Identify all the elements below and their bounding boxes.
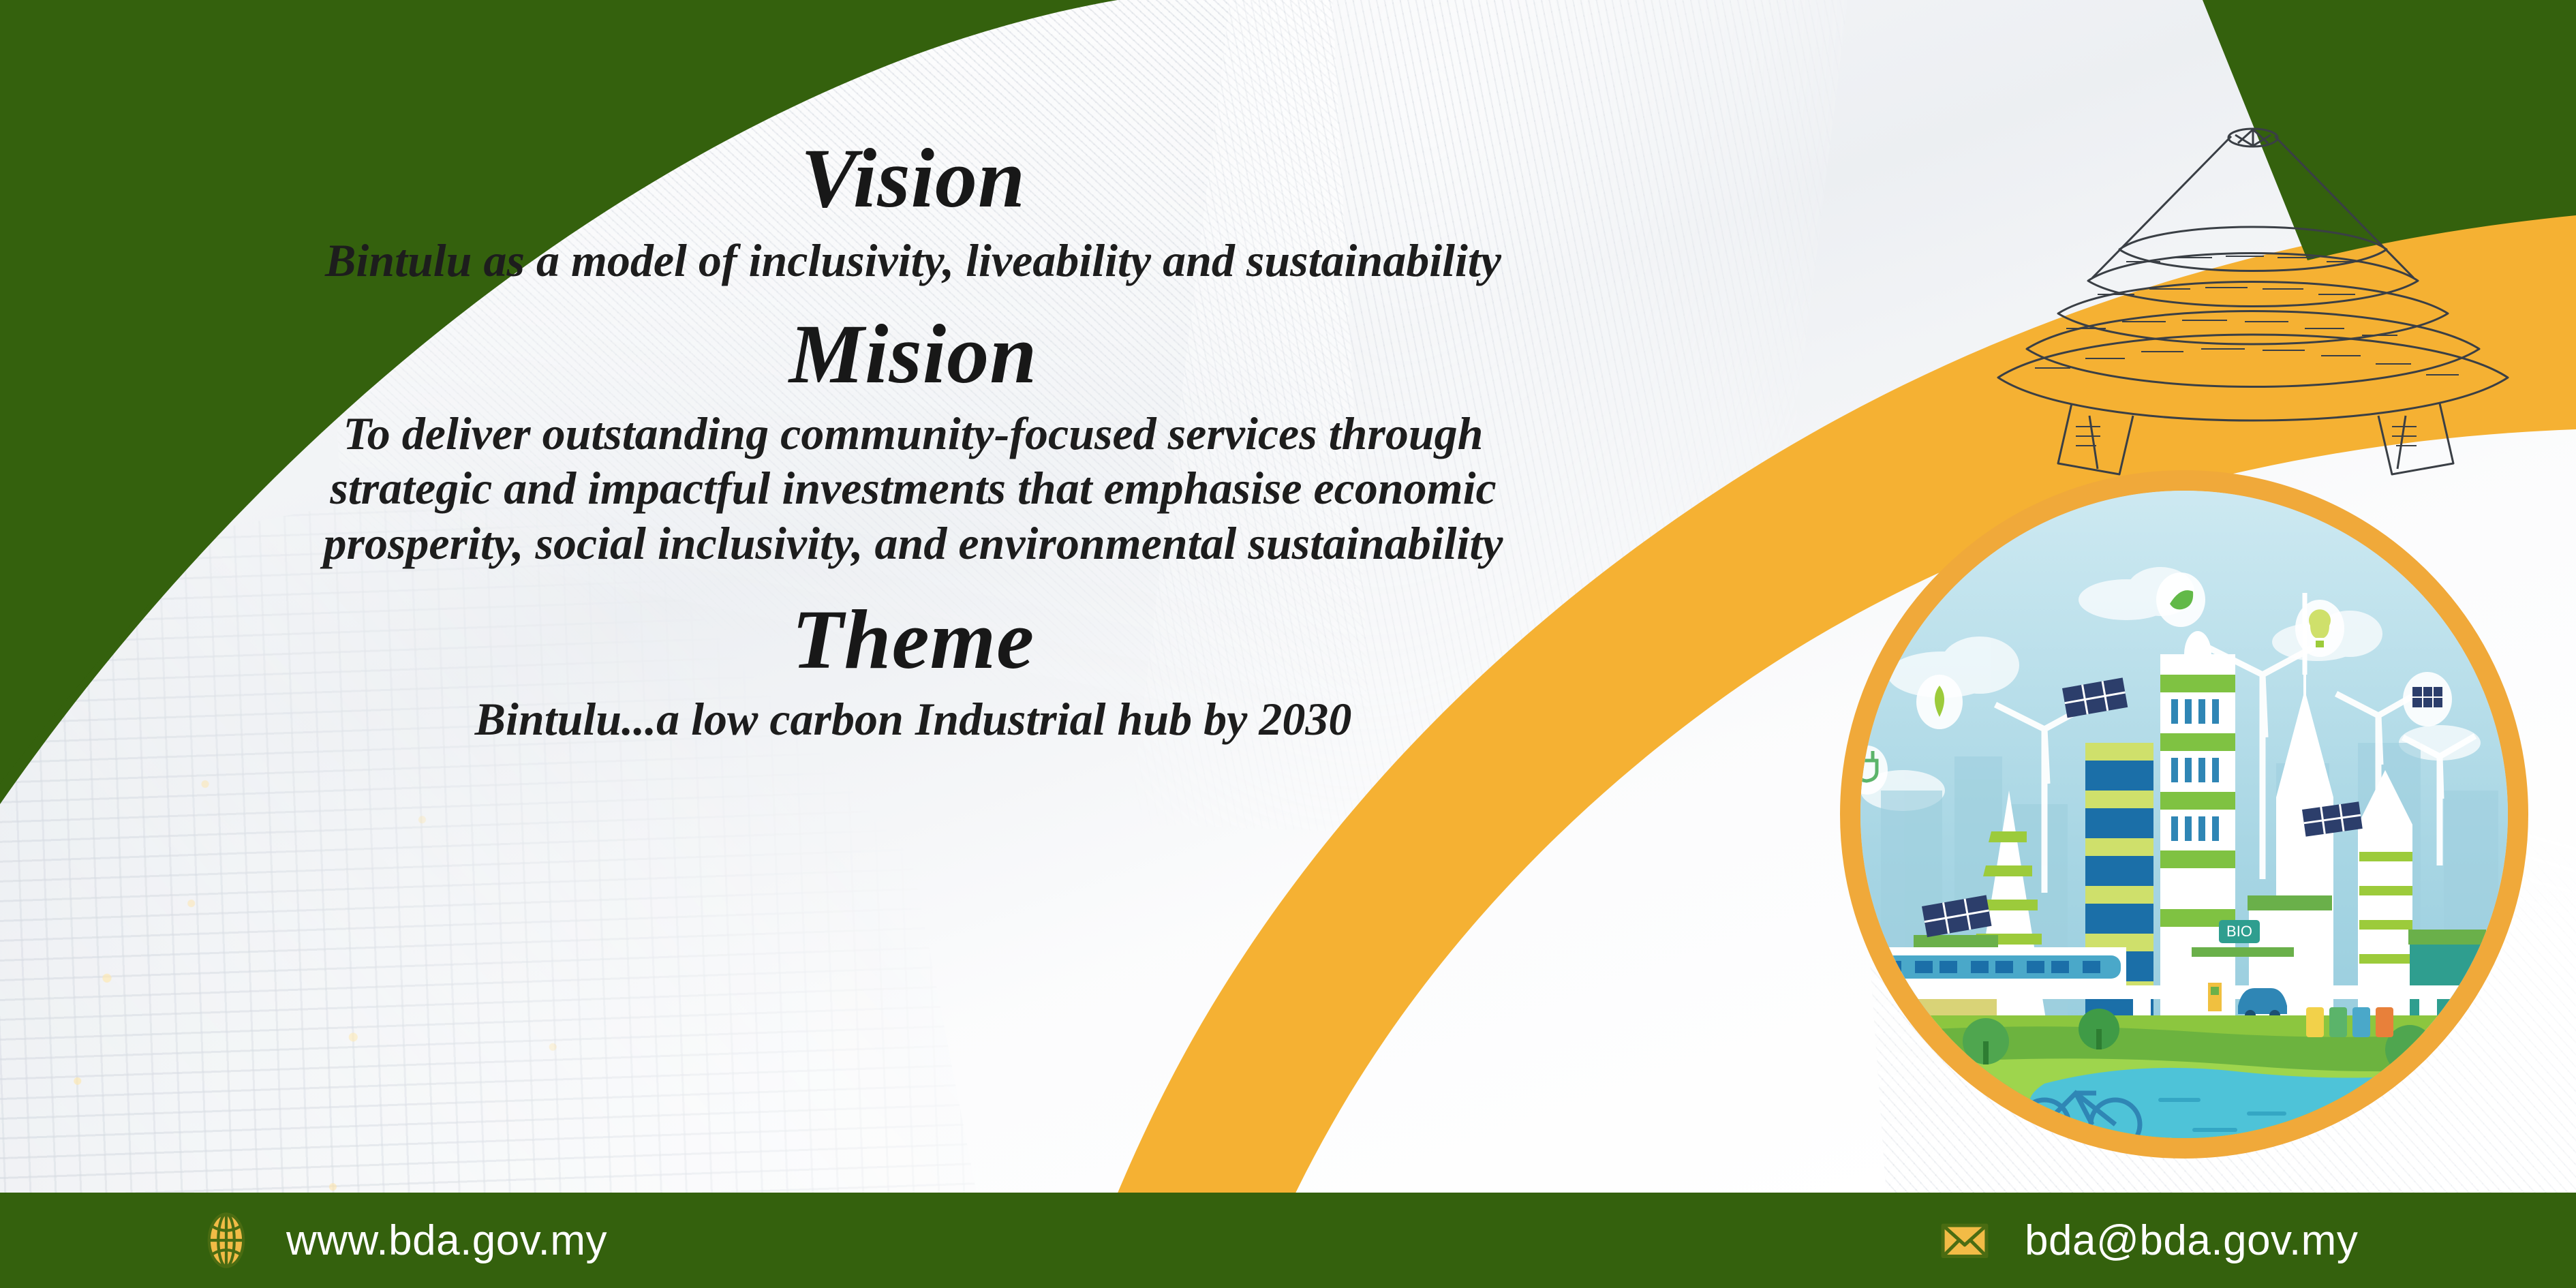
footer-bar: www.bda.gov.my bda@bda.gov.my [0, 1193, 2576, 1288]
vision-text: Bintulu as a model of inclusivity, livea… [0, 233, 1826, 288]
banner-root: BIO [0, 0, 2576, 1288]
email-label: bda@bda.gov.my [2025, 1216, 2358, 1265]
mission-line-3: prosperity, social inclusivity, and envi… [0, 516, 1826, 570]
eco-city-circle: BIO [1840, 470, 2528, 1159]
theme-text: Bintulu...a low carbon Industrial hub by… [0, 692, 1826, 746]
theme-heading: Theme [0, 598, 1826, 682]
website-label: www.bda.gov.my [286, 1216, 607, 1265]
globe-icon [198, 1212, 255, 1269]
vision-heading: Vision [0, 136, 1826, 221]
mission-heading: Mision [0, 312, 1826, 397]
mission-line-1: To deliver outstanding community-focused… [0, 406, 1826, 461]
conical-building-icon [1956, 95, 2556, 477]
mission-line-2: strategic and impactful investments that… [0, 461, 1826, 515]
content-block: Vision Bintulu as a model of inclusivity… [0, 0, 1826, 1186]
mission-text: To deliver outstanding community-focused… [0, 406, 1826, 570]
footer-email[interactable]: bda@bda.gov.my [1936, 1212, 2358, 1269]
eco-city-illustration: BIO [1840, 470, 2528, 1159]
svg-text:BIO: BIO [2226, 923, 2252, 940]
envelope-icon [1936, 1212, 1993, 1269]
footer-website[interactable]: www.bda.gov.my [198, 1212, 607, 1269]
